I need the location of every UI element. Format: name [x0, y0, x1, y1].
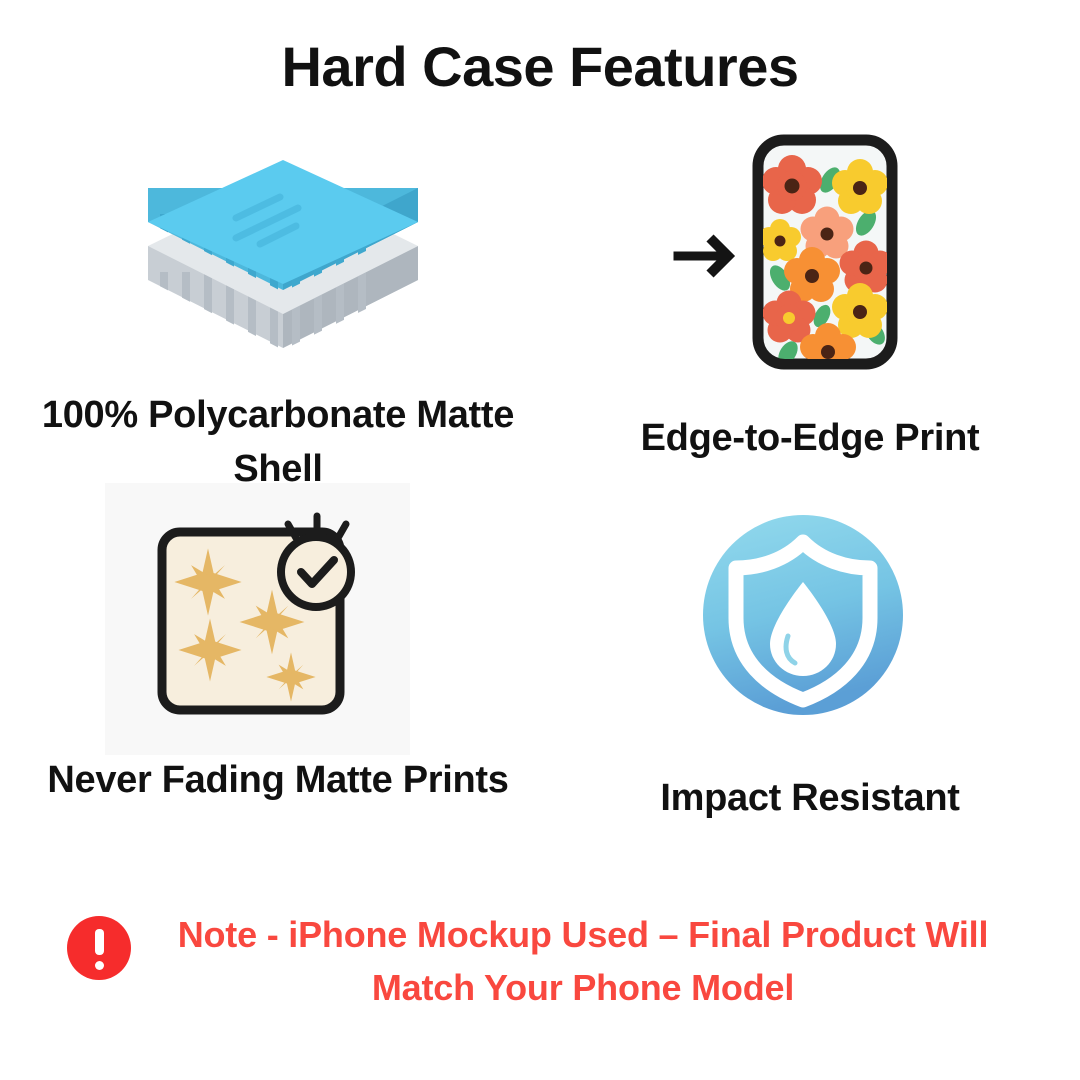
exclamation-dot [95, 961, 104, 970]
feature-edge-print: Edge-to-Edge Print [560, 128, 1060, 466]
sparkle-card-check-icon [148, 510, 378, 725]
feature-never-fading-label: Never Fading Matte Prints [18, 754, 538, 808]
exclamation-circle-icon [67, 916, 131, 980]
feature-impact: Impact Resistant [560, 500, 1060, 826]
feature-polycarbonate: 100% Polycarbonate Matte Shell [18, 160, 538, 497]
infographic-canvas: Hard Case Features [0, 0, 1080, 1080]
feature-impact-art [560, 500, 1060, 740]
feature-never-fading: Never Fading Matte Prints [18, 470, 538, 808]
feature-edge-print-art [560, 128, 1060, 378]
floral-phone-case-icon [670, 128, 950, 378]
note-text: Note - iPhone Mockup Used – Final Produc… [153, 908, 1013, 1015]
page-title: Hard Case Features [0, 36, 1080, 98]
feature-polycarbonate-art [18, 160, 538, 375]
feature-never-fading-art [18, 470, 538, 738]
feature-impact-label: Impact Resistant [560, 772, 1060, 826]
arrow-right-icon [678, 238, 728, 274]
layered-slabs-icon [138, 160, 428, 370]
feature-edge-print-label: Edge-to-Edge Print [560, 412, 1060, 466]
note-row: Note - iPhone Mockup Used – Final Produc… [0, 908, 1080, 1015]
exclamation-stem [95, 929, 104, 955]
check-badge-icon [281, 516, 351, 607]
shield-droplet-icon [688, 500, 918, 730]
